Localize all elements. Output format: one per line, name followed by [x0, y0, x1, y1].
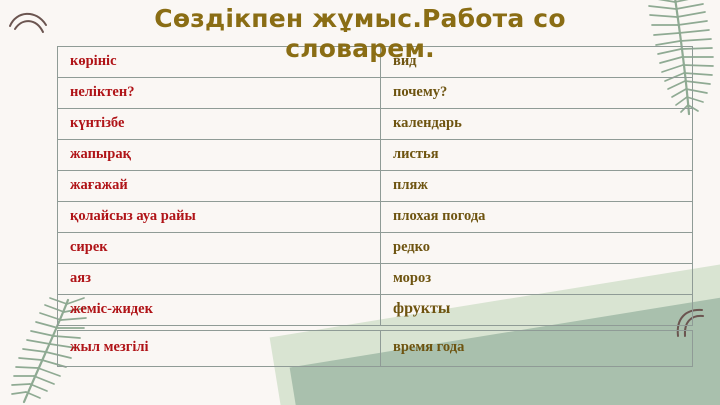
cell-kazakh: аяз — [58, 264, 381, 295]
cell-kazakh: жеміс-жидек — [58, 295, 381, 326]
vocabulary-table: көрініс вид неліктен? почему? күнтізбе к… — [57, 46, 693, 326]
slide-canvas: Сөздікпен жұмыс.Работа со словарем. көрі… — [0, 0, 720, 405]
cell-kazakh: сирек — [58, 233, 381, 264]
double-arc-icon — [8, 8, 54, 47]
final-row-table: жыл мезгілі время года — [57, 330, 693, 367]
table-row: жыл мезгілі время года — [58, 331, 693, 367]
cell-kazakh: жыл мезгілі — [58, 331, 381, 367]
cell-russian: фрукты — [381, 295, 693, 326]
cell-russian: пляж — [381, 171, 693, 202]
cell-kazakh: қолайсыз ауа райы — [58, 202, 381, 233]
cell-russian: почему? — [381, 78, 693, 109]
cell-kazakh: күнтізбе — [58, 109, 381, 140]
table-row: жеміс-жидек фрукты — [58, 295, 693, 326]
table-row: жапырақ листья — [58, 140, 693, 171]
cell-russian: редко — [381, 233, 693, 264]
table-row: қолайсыз ауа райы плохая погода — [58, 202, 693, 233]
cell-kazakh: жапырақ — [58, 140, 381, 171]
cell-russian: время года — [381, 331, 693, 367]
table-row: күнтізбе календарь — [58, 109, 693, 140]
cell-russian: плохая погода — [381, 202, 693, 233]
cell-kazakh: неліктен? — [58, 78, 381, 109]
cell-russian: мороз — [381, 264, 693, 295]
cell-russian: листья — [381, 140, 693, 171]
table-row: жағажай пляж — [58, 171, 693, 202]
table-row: неліктен? почему? — [58, 78, 693, 109]
table-row: аяз мороз — [58, 264, 693, 295]
page-title: Сөздікпен жұмыс.Работа со словарем. — [110, 4, 610, 63]
cell-kazakh: жағажай — [58, 171, 381, 202]
cell-russian: календарь — [381, 109, 693, 140]
table-row: сирек редко — [58, 233, 693, 264]
